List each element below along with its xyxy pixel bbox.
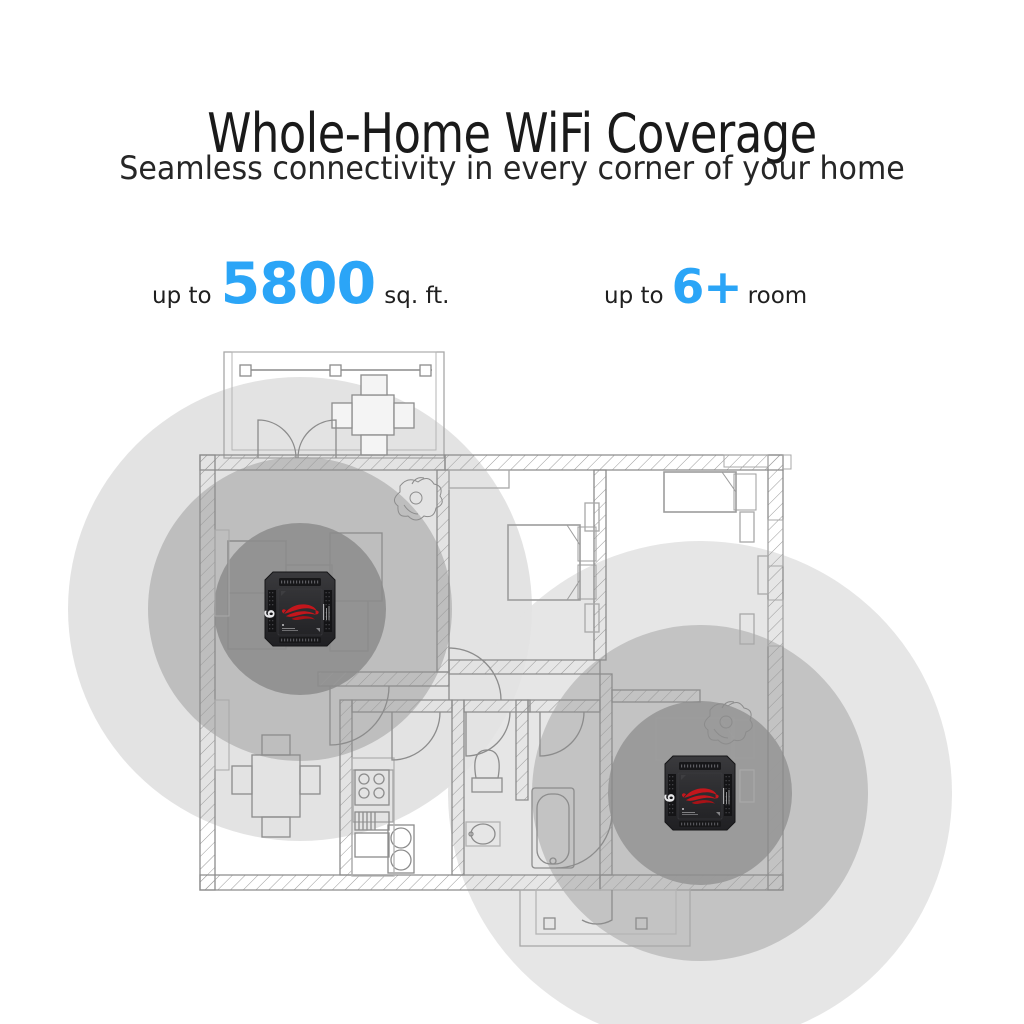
wifi6-badge: 6 [264, 609, 279, 618]
infographic-canvas: Whole-Home WiFi Coverage Seamless connec… [0, 0, 1024, 1024]
floor-plan-diagram: 6 [0, 0, 1024, 1024]
router-primary[interactable]: 6 [261, 568, 339, 650]
floor-plan-svg [0, 0, 1024, 1024]
bed-right [664, 472, 756, 512]
router-secondary[interactable]: 6 [661, 752, 739, 834]
wifi6-badge: 6 [664, 793, 679, 802]
router-icon: 6 [261, 568, 339, 650]
router-icon: 6 [661, 752, 739, 834]
washer [388, 825, 414, 873]
